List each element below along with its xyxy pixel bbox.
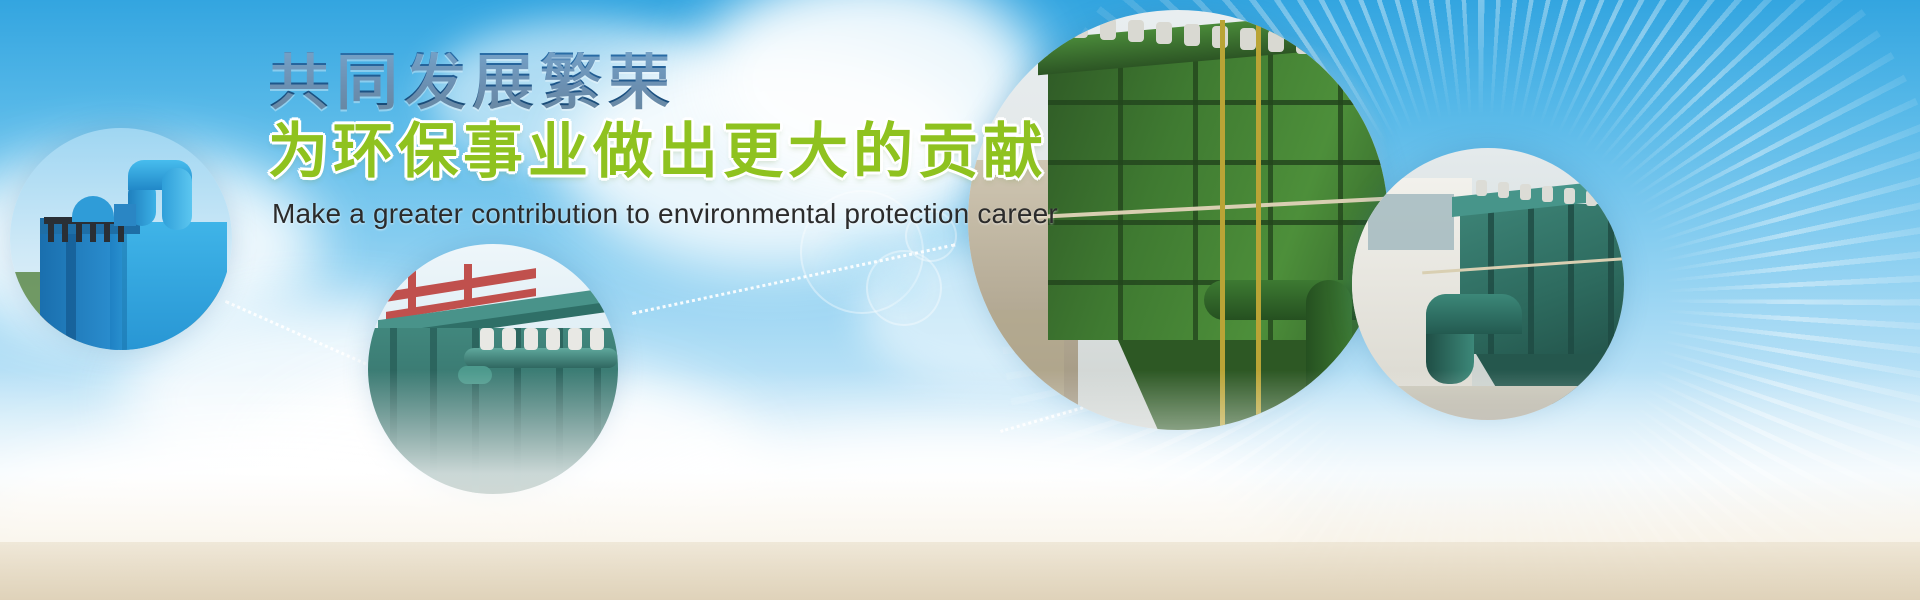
dashed-connector-center (632, 243, 955, 315)
photo-left (10, 128, 232, 350)
subtitle-english: Make a greater contribution to environme… (272, 197, 1268, 231)
lens-flare-bokeh (866, 250, 942, 326)
banner-copy: 共同发展繁荣 为环保事业做出更大的贡献 Make a greater contr… (268, 52, 1268, 231)
dashed-connector-left (225, 300, 391, 376)
headline-primary: 共同发展繁荣 (268, 52, 1268, 114)
photo-left-scene (10, 128, 232, 350)
hero-banner: 共同发展繁荣 为环保事业做出更大的贡献 Make a greater contr… (0, 0, 1920, 600)
ground-strip (0, 542, 1920, 600)
headline-secondary: 为环保事业做出更大的贡献 (268, 120, 1268, 183)
